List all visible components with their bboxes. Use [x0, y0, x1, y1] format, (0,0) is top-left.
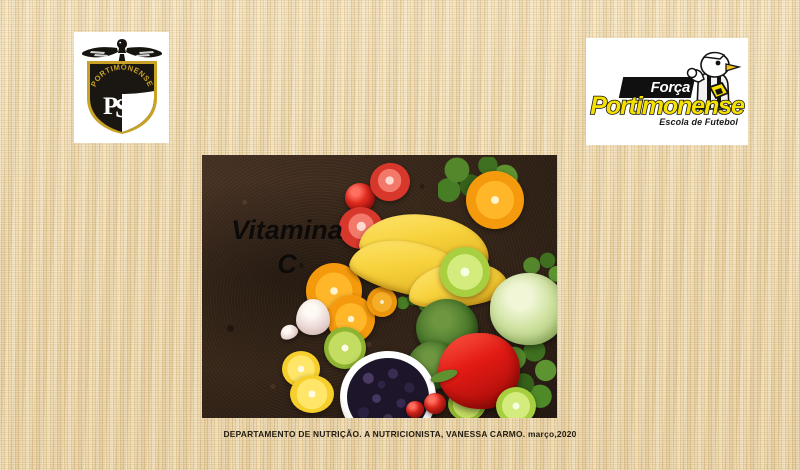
lime-half-center: [440, 247, 490, 297]
crest-letter-s: S: [115, 93, 130, 123]
svg-text:PORTIMONENSE: PORTIMONENSE: [89, 62, 155, 88]
lemon-half-lower: [290, 375, 334, 413]
portimonense-sc-crest-icon: PORTIMONENSE P S C: [79, 38, 165, 138]
vitamin-c-foods-photo: VitaminaC: [202, 155, 557, 418]
garlic-bulb: [296, 299, 330, 335]
crest-lettering: PORTIMONENSE P S C: [87, 60, 157, 134]
portimonense-word: Portimonense: [590, 93, 744, 119]
slide-canvas: PORTIMONENSE P S C: [0, 0, 800, 470]
crest-letter-c: C: [130, 93, 148, 120]
orange-wedge: [367, 287, 397, 317]
cherry-tomato-b: [406, 401, 424, 418]
cabbage-head: [490, 273, 557, 345]
overlay-title-line2: C: [277, 249, 297, 279]
cherry-tomato-a: [424, 393, 446, 414]
lime-half-lower-right: [496, 387, 536, 418]
overlay-title: VitaminaC: [212, 213, 362, 281]
club-crest-panel: PORTIMONENSE P S C: [74, 32, 169, 143]
caption-text: DEPARTAMENTO DE NUTRIÇÃO. A NUTRICIONIST…: [0, 429, 800, 439]
orange-half-top-right: [466, 171, 524, 229]
overlay-title-line1: Vitamina: [231, 215, 343, 245]
crest-arched-text: PORTIMONENSE: [89, 62, 155, 88]
school-logo-panel: Força Portimonense Escola de Futebol: [586, 38, 748, 145]
forca-portimonense-logo-icon: Força Portimonense Escola de Futebol: [588, 51, 746, 133]
escola-de-futebol-text: Escola de Futebol: [590, 117, 744, 127]
